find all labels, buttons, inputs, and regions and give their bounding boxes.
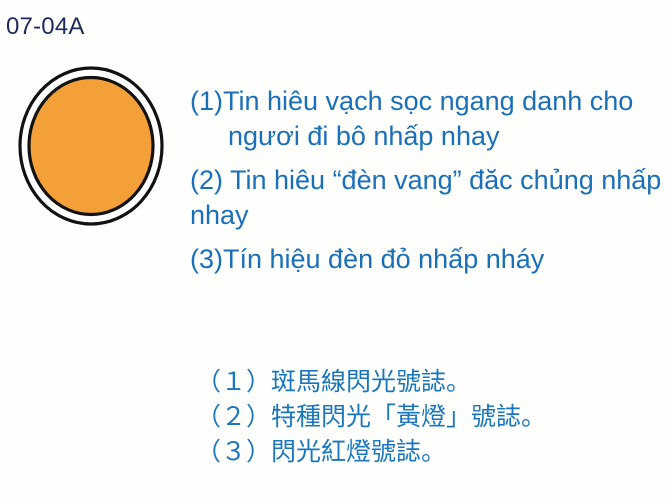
- vietnamese-text-block: (1)Tin hiêu vạch sọc ngang danh cho ngươ…: [190, 84, 664, 277]
- chinese-line-2: （２）特種閃光「黃燈」號誌。: [196, 399, 666, 434]
- page-title: 07-04A: [6, 12, 85, 42]
- vietnamese-item-3: (3)Tín hiệu đèn đỏ nhấp nháy: [190, 242, 664, 277]
- chinese-text-block: （１）斑馬線閃光號誌。 （２）特種閃光「黃燈」號誌。 （３）閃光紅燈號誌。: [196, 364, 666, 469]
- signal-lens-graphic: [18, 66, 164, 226]
- vietnamese-item-2: (2) Tin hiêu “đèn vang” đăc chủng nhấp n…: [190, 163, 664, 233]
- signal-inner-ring: [29, 78, 153, 215]
- signal-card: 07-04A (1)Tin hiêu vạch sọc ngang danh c…: [0, 0, 672, 504]
- flashing-amber-signal-icon: [18, 66, 164, 226]
- chinese-line-3: （３）閃光紅燈號誌。: [196, 434, 666, 469]
- chinese-line-1: （１）斑馬線閃光號誌。: [196, 364, 666, 399]
- vietnamese-item-1: (1)Tin hiêu vạch sọc ngang danh cho ngươ…: [190, 84, 664, 154]
